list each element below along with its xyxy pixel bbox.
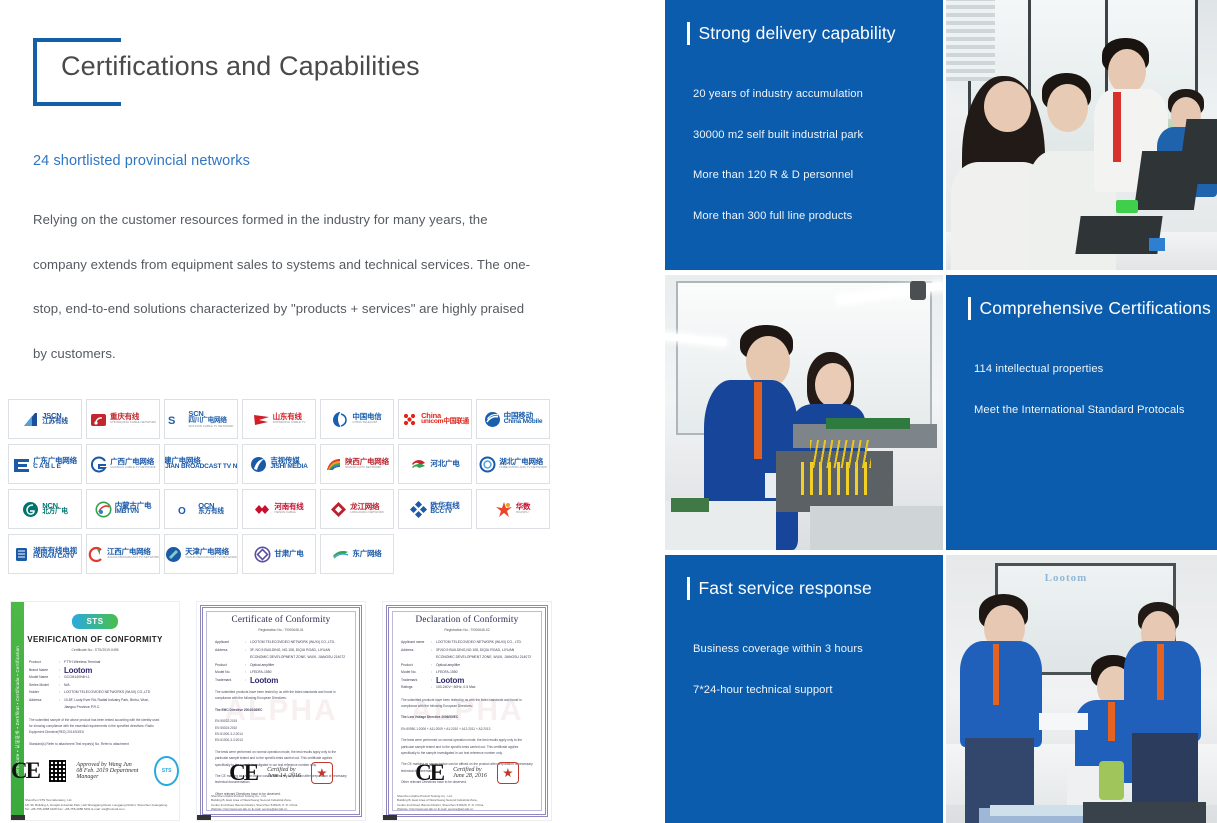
partner-logo-guangxi-cable: 广西广电网络GUANGXI CABLE TV NETWORK: [86, 444, 160, 484]
certificate-field-row: Applicant : LOOTOM TELECOVIDEO NETWORK (…: [215, 639, 347, 647]
right-panel-grid: Strong delivery capability 20 years of i…: [665, 0, 1217, 823]
logo-name-secondary: C A B L E: [33, 464, 77, 471]
certificate-statement: The submitted products have been tested …: [387, 697, 547, 710]
partner-logo-imbtvn: 内蒙古广电IMBTVN: [86, 489, 160, 529]
certificate-field-row: Model Name : GCCM140H4H-1: [29, 674, 161, 682]
china-mobile-mark-icon: [484, 411, 501, 428]
card-fast-service-response: Fast service response Business coverage …: [665, 555, 943, 823]
body-line: company extends from equipment sales to …: [33, 243, 533, 288]
partner-logo-text: 天津广电网络TIANJIN BROADCAST TV NETWORK: [185, 548, 237, 559]
partner-logo-text: 陕西广电网络SHANXI CATV NETWORK: [345, 458, 389, 469]
partner-logo-text: 中国移动China Mobile: [504, 412, 543, 427]
partner-logo-scn: SSCN四川广电网络SICHUAN CABLE TV NETWORK: [164, 399, 238, 439]
certificate-registration: Registration No.: TI000645-02: [444, 628, 489, 632]
partner-logo-text: 吉视传媒JISHI MEDIA: [270, 457, 307, 472]
logo-name-secondary: 北方广电: [42, 509, 68, 516]
logo-name-latin: HENAN CABLE: [274, 511, 303, 514]
card-title: Comprehensive Certifications: [980, 298, 1211, 319]
partner-logo-longjiang-network: 龙江网络LONGJIANG NETWORK: [320, 489, 394, 529]
partner-logo-china-telecom: 中国电信CHINA TELECOM: [320, 399, 394, 439]
certificate-footer: Shenzhen Alpha Product Testing Co., Ltd.…: [397, 794, 541, 812]
card-strong-delivery-capability: Strong delivery capability 20 years of i…: [665, 0, 943, 270]
certificate-footer: Shenzhen STS Test laboratory, Ltd.1/F-3F…: [25, 798, 169, 812]
certificate-field-row: Applicant name : LOOTOM TELECOVIDEO NETW…: [401, 639, 533, 647]
field-label: Ratings: [401, 684, 431, 692]
logo-name-latin: GUANGXI CABLE TV NETWORK: [110, 466, 156, 469]
field-value: LOOTOM TELECOVIDEO NETWORK (WUXI) CO.,LT…: [250, 639, 347, 647]
tianjin-network-mark-icon: [165, 546, 182, 563]
logo-name-secondary: JISHI MEDIA: [270, 464, 307, 471]
guangdong-cable-mark-icon: [13, 456, 30, 473]
list-item: More than 300 full line products: [687, 196, 925, 237]
field-value: LOOTOM TELECOVIDEO NETWORKS (WUXI) CO.,L…: [64, 689, 161, 697]
partner-logo-text: 广东广电网络C A B L E: [33, 457, 77, 472]
certificate-title: Certificate of Conformity: [232, 614, 331, 624]
card-header: Strong delivery capability: [687, 22, 925, 45]
photo-lab-engineers-laptops: [946, 0, 1217, 270]
partner-logo-henan-cable: 河南有线HENAN CABLE: [242, 489, 316, 529]
field-label: Product: [215, 662, 245, 670]
title-accent-bar-icon: [968, 297, 971, 320]
certificate-field-row: Model No. : LFEDFA-1550: [215, 669, 347, 677]
field-label: Model No.: [215, 669, 245, 677]
field-label: Model No.: [401, 669, 431, 677]
certificate-field-row: Holder : LOOTOM TELECOVIDEO NETWORKS (WU…: [29, 689, 161, 697]
slide-root: Certifications and Capabilities 24 short…: [0, 0, 1217, 823]
partner-logo-text: OCN东方有线: [198, 502, 224, 517]
partner-logo-text: 湖南有线电视HUNAN CATV: [33, 547, 77, 562]
field-label: Trademark: [215, 677, 245, 685]
certificate-field-list: Applicant : LOOTOM TELECOVIDEO NETWORK (…: [201, 639, 361, 684]
field-label: Address: [401, 647, 431, 662]
certificate-field-row: Product : FTTH Wireless Terminal: [29, 659, 161, 667]
certificate-field-row: Product : Optical amplifier: [215, 662, 347, 670]
certificate-gallery: Certificate ▪ 认证证书 ▪ Zertifikat ▪ Certif…: [10, 601, 552, 821]
ce-mark-icon: CE: [415, 760, 443, 786]
certificate-card-1: Certificate ▪ 认证证书 ▪ Zertifikat ▪ Certif…: [10, 601, 180, 821]
field-value: Optical amplifier: [436, 662, 533, 670]
field-value: GCCM140H4H-1: [64, 674, 161, 682]
partner-logo-text: 重庆有线CHONGQING CABLE NETWORK: [110, 413, 156, 424]
shanxi-catv-mark-icon: [325, 456, 342, 473]
certificate-directive-title: The EMC Directive 2004/108/EC: [201, 707, 361, 713]
page-title: Certifications and Capabilities: [61, 51, 420, 82]
partner-logo-huashu: 华数HUASHU: [476, 489, 550, 529]
field-value: LOOTOM TELECOVIDEO NETWORK (WUXI) CO., L…: [436, 639, 533, 647]
partner-logo-china-mobile: 中国移动China Mobile: [476, 399, 550, 439]
certificate-statement: The submitted products have been tested …: [201, 689, 361, 702]
card-comprehensive-certifications: Comprehensive Certifications 114 intelle…: [946, 275, 1217, 550]
card-bullet-list: 114 intellectual properties Meet the Int…: [968, 349, 1202, 430]
certificate-statement: The submitted sample of the above produc…: [15, 717, 175, 736]
partner-logo-fujian-broadcast: 福建广电网络FUJIAN BROADCAST TV NETWORK: [164, 444, 238, 484]
signature-text: Certified byJune 28, 2016: [453, 767, 487, 779]
certificate-field-row: Address : 3F,NO.9 BUILDING,NO.108, DIQIU…: [401, 647, 533, 662]
partner-logo-jiangxi-network: 江西广电网络JIANGXI BROADCAST TV NETWORK: [86, 534, 160, 574]
logo-name-latin: SICHUAN CABLE TV NETWORK: [188, 425, 233, 428]
field-value: 3F,NO.9 BUILDING,NO.108, DIQIU ROAD, LIY…: [436, 647, 533, 662]
partner-logo-tianjin-network: 天津广电网络TIANJIN BROADCAST TV NETWORK: [164, 534, 238, 574]
logo-name-latin: SHANXI CATV NETWORK: [345, 466, 389, 469]
issuer-logo-icon: STS: [72, 614, 118, 629]
hubei-network-mark-icon: [479, 456, 496, 473]
partner-logo-jishi-media: 吉视传媒JISHI MEDIA: [242, 444, 316, 484]
henan-cable-mark-icon: [254, 501, 271, 518]
certificate-field-row: Ratings : 100-240V~,50Hz, 0.5 Max: [401, 684, 533, 692]
partner-logo-text: 欧华有线BCCTV: [430, 502, 459, 517]
logo-name-latin: HUASHU: [516, 511, 531, 514]
certificate-field-row: Address : 3F, NO.9 BUILDING, NO.108, DIQ…: [215, 647, 347, 662]
svg-text:O: O: [178, 506, 186, 517]
card-header: Comprehensive Certifications: [968, 297, 1202, 320]
logo-name-primary: 东广网络: [352, 550, 381, 558]
logo-name-secondary: unicom中国联通: [421, 419, 469, 426]
partner-logo-chongqing-cable: 重庆有线CHONGQING CABLE NETWORK: [86, 399, 160, 439]
china-telecom-mark-icon: [332, 411, 349, 428]
shandong-cable-mark-icon: [253, 411, 270, 428]
logo-name-latin: SHANDONG CABLE TV: [273, 421, 306, 424]
logo-name-latin: TIANJIN BROADCAST TV NETWORK: [185, 556, 237, 559]
field-label: Model Name: [29, 674, 59, 682]
card-bullet-list: 20 years of industry accumulation 30000 …: [687, 74, 925, 236]
certificate-field-list: Product : FTTH Wireless Terminal Brand N…: [15, 659, 175, 712]
card-header: Fast service response: [687, 577, 925, 600]
longjiang-network-mark-icon: [330, 501, 347, 518]
partner-logo-dongguang-network: 东广网络: [320, 534, 394, 574]
ocn-mark-icon: O: [178, 501, 195, 518]
list-item: 7*24-hour technical support: [687, 670, 925, 711]
field-value: Lootom: [64, 667, 161, 675]
logo-name-secondary: FUJIAN BROADCAST TV NETWORK: [164, 464, 238, 471]
partner-logo-text: 湖北广电网络HUBEI RADIO AND TV NETWORK: [499, 458, 546, 469]
certificate-note: Standard(s) Refer to attachment Test rep…: [15, 741, 175, 747]
logo-name-secondary: 江苏有线: [42, 419, 68, 426]
partner-logo-text: 甘肃广电: [274, 550, 303, 558]
card-title: Strong delivery capability: [699, 23, 896, 44]
field-label: Applicant: [215, 639, 245, 647]
certificate-standards: EN 55032:2015EN 55024:2010EN 61000-3-2:2…: [201, 718, 361, 744]
certificate-card-3: ALPHADeclaration of ConformityRegistrati…: [382, 601, 552, 821]
photo-assembly-inspection: [665, 275, 943, 550]
partner-logo-text: 内蒙古广电IMBTVN: [115, 502, 152, 517]
field-label: Trademark: [401, 677, 431, 685]
imbtvn-mark-icon: [95, 501, 112, 518]
certificate-field-row: Product : Optical amplifier: [401, 662, 533, 670]
logo-name-secondary: IMBTVN: [115, 509, 152, 516]
field-value: Lootom: [250, 677, 347, 685]
chongqing-cable-mark-icon: [90, 411, 107, 428]
issuer-stamp-icon: [497, 762, 519, 784]
card-title: Fast service response: [699, 578, 872, 599]
hebei-broadcast-mark-icon: [410, 456, 427, 473]
body-paragraph: Relying on the customer resources formed…: [33, 198, 533, 376]
partner-logo-hebei-broadcast: 河北广电: [398, 444, 472, 484]
dongguang-network-mark-icon: [332, 546, 349, 563]
svg-text:S: S: [168, 415, 175, 427]
logo-name-latin: HUBEI RADIO AND TV NETWORK: [499, 466, 546, 469]
partner-logo-bcctv: 欧华有线BCCTV: [398, 489, 472, 529]
certificate-standards: EN 60950-1:2006 + A11:2009 + A1:2010 + A…: [387, 726, 547, 732]
partner-logo-text: 福建广电网络FUJIAN BROADCAST TV NETWORK: [164, 457, 238, 472]
certificate-card-2: ALPHACertificate of ConformityRegistrati…: [196, 601, 366, 821]
partner-logo-hunan-catv: 湖南有线电视HUNAN CATV: [8, 534, 82, 574]
partner-logo-text: 中国电信CHINA TELECOM: [352, 413, 381, 424]
list-item: More than 120 R & D personnel: [687, 155, 925, 196]
certificate-footer: Shenzhen Alpha Product Testing Co., Ltd.…: [211, 794, 355, 812]
field-label: Product: [401, 662, 431, 670]
partner-logo-jscn: JSCN江苏有线: [8, 399, 82, 439]
certificate-title: Declaration of Conformity: [416, 614, 519, 624]
logo-name-primary: 甘肃广电: [274, 550, 303, 558]
partner-logo-grid: JSCN江苏有线重庆有线CHONGQING CABLE NETWORKSSCN四…: [8, 399, 568, 574]
field-label: Series Model: [29, 682, 59, 690]
partner-logo-text: 山东有线SHANDONG CABLE TV: [273, 413, 306, 424]
logo-name-secondary: BCCTV: [430, 509, 459, 516]
partner-logo-text: 河南有线HENAN CABLE: [274, 503, 303, 514]
certificate-field-row: Trademark : Lootom: [215, 677, 347, 685]
partner-logo-text: SCN四川广电网络SICHUAN CABLE TV NETWORK: [188, 410, 233, 428]
ce-mark-icon: CE: [11, 758, 39, 784]
partner-logo-text: 华数HUASHU: [516, 503, 531, 514]
certificate-signature-row: CECertified byJune 28, 2016: [383, 760, 551, 786]
body-line: stop, end-to-end solutions characterized…: [33, 287, 533, 332]
field-label: Brand Name: [29, 667, 59, 675]
certificate-field-row: Address : 10-8F, Lusty Ever Rd, Radial I…: [29, 697, 161, 712]
list-item: 30000 m2 self built industrial park: [687, 115, 925, 156]
certificate-signature-row: CEApproved by Wang Jun08 Feb. 2019 Depar…: [11, 756, 179, 786]
certificate-field-row: Trademark : Lootom: [401, 677, 533, 685]
field-label: Address: [215, 647, 245, 662]
partner-logo-shanxi-catv: 陕西广电网络SHANXI CATV NETWORK: [320, 444, 394, 484]
hunan-catv-mark-icon: [13, 546, 30, 563]
partner-logo-text: 河北广电: [430, 460, 459, 468]
scn-mark-icon: S: [168, 411, 185, 428]
field-value: Lootom: [436, 677, 533, 685]
certificate-statement-2: The tests were performed on normal opera…: [387, 737, 547, 756]
jscn-mark-icon: [22, 411, 39, 428]
field-label: Applicant name: [401, 639, 431, 647]
field-value: Optical amplifier: [250, 662, 347, 670]
partner-logo-text: 广西广电网络GUANGXI CABLE TV NETWORK: [110, 458, 156, 469]
certificate-page-tab: [383, 815, 397, 820]
list-item: Business coverage within 3 hours: [687, 629, 925, 670]
left-content-column: Certifications and Capabilities 24 short…: [0, 0, 665, 823]
logo-name-secondary: 东方有线: [198, 509, 224, 516]
page-title-block: Certifications and Capabilities: [33, 38, 392, 69]
field-label: Holder: [29, 689, 59, 697]
logo-name-latin: CHINA TELECOM: [352, 421, 381, 424]
certificate-directive-title: The Low Voltage Directive 2006/95/EC: [387, 714, 547, 720]
certificate-field-row: Brand Name : Lootom: [29, 667, 161, 675]
certificate-registration: Certificate No.: STS/2019-0495: [71, 648, 118, 652]
bcctv-mark-icon: [410, 501, 427, 518]
partner-logo-text: 龙江网络LONGJIANG NETWORK: [350, 503, 384, 514]
logo-name-latin: JIANGXI BROADCAST TV NETWORK: [107, 556, 159, 559]
partner-logo-text: JSCN江苏有线: [42, 412, 68, 427]
ce-mark-icon: CE: [229, 760, 257, 786]
field-label: Address: [29, 697, 59, 712]
title-accent-bar-icon: [687, 22, 690, 45]
partner-logo-text: 江西广电网络JIANGXI BROADCAST TV NETWORK: [107, 548, 159, 559]
partner-logo-text: Chinaunicom中国联通: [421, 412, 469, 427]
section-subtitle: 24 shortlisted provincial networks: [33, 153, 250, 169]
list-item: 114 intellectual properties: [968, 349, 1202, 390]
field-label: Product: [29, 659, 59, 667]
field-value: 10-8F, Lusty Ever Rd, Radial Industry Pa…: [64, 697, 161, 712]
partner-logo-ocn: OOCN东方有线: [164, 489, 238, 529]
logo-name-secondary: China Mobile: [504, 419, 543, 426]
partner-logo-hubei-network: 湖北广电网络HUBEI RADIO AND TV NETWORK: [476, 444, 550, 484]
building-sign-text: Lootom: [1045, 572, 1088, 584]
body-line: Relying on the customer resources formed…: [33, 198, 533, 243]
certificate-field-row: Series Model : N/A: [29, 682, 161, 690]
qr-code-icon: [49, 760, 66, 782]
certificate-signature-row: CECertified byJune 14, 2016: [197, 760, 365, 786]
partner-logo-text: NCN北方广电: [42, 502, 68, 517]
field-value: 100-240V~,50Hz, 0.5 Max: [436, 684, 533, 692]
certificate-registration: Registration No.: TI000645-01: [258, 628, 303, 632]
signature-text: Approved by Wang Jun08 Feb. 2019 Departm…: [76, 762, 144, 780]
field-value: N/A: [64, 682, 161, 690]
issuer-stamp-icon: STS: [154, 756, 179, 786]
ncn-mark-icon: [22, 501, 39, 518]
certificate-page-tab: [197, 815, 211, 820]
partner-logo-guangdong-cable: 广东广电网络C A B L E: [8, 444, 82, 484]
china-unicom-mark-icon: [401, 411, 418, 428]
list-item: 20 years of industry accumulation: [687, 74, 925, 115]
jiangxi-network-mark-icon: [87, 546, 104, 563]
huashu-mark-icon: [496, 501, 513, 518]
certificate-field-row: Model No. : LFEDFA-1550: [401, 669, 533, 677]
logo-name-latin: CHONGQING CABLE NETWORK: [110, 421, 156, 424]
partner-logo-gansu-broadcast: 甘肃广电: [242, 534, 316, 574]
card-bullet-list: Business coverage within 3 hours 7*24-ho…: [687, 629, 925, 710]
guangxi-cable-mark-icon: [90, 456, 107, 473]
photo-office-team-discussion: Lootom: [946, 555, 1217, 823]
gansu-broadcast-mark-icon: [254, 546, 271, 563]
logo-name-primary: 河北广电: [430, 460, 459, 468]
partner-logo-shandong-cable: 山东有线SHANDONG CABLE TV: [242, 399, 316, 439]
body-line: by customers.: [33, 332, 533, 377]
jishi-media-mark-icon: [250, 456, 267, 473]
partner-logo-china-unicom: Chinaunicom中国联通: [398, 399, 472, 439]
list-item: Meet the International Standard Protocal…: [968, 390, 1202, 431]
issuer-stamp-icon: [311, 762, 333, 784]
signature-text: Certified byJune 14, 2016: [267, 767, 301, 779]
certificate-field-list: Applicant name : LOOTOM TELECOVIDEO NETW…: [387, 639, 547, 692]
partner-logo-text: 东广网络: [352, 550, 381, 558]
logo-name-latin: LONGJIANG NETWORK: [350, 511, 384, 514]
partner-logo-ncn: NCN北方广电: [8, 489, 82, 529]
logo-name-secondary: HUNAN CATV: [33, 554, 77, 561]
title-accent-bar-icon: [687, 577, 690, 600]
certificate-title: VERIFICATION OF CONFORMITY: [27, 635, 163, 644]
certificate-page-tab: [11, 815, 25, 820]
field-value: 3F, NO.9 BUILDING, NO.108, DIQIU ROAD, L…: [250, 647, 347, 662]
